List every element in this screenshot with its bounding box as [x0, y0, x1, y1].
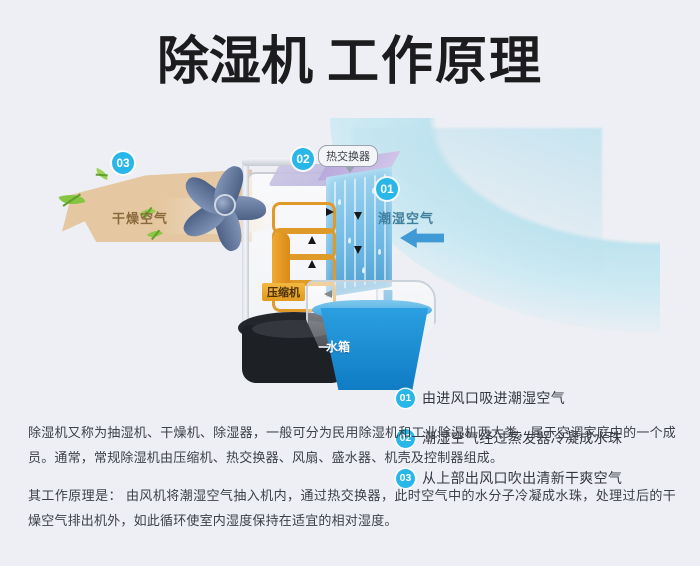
legend-text-01: 由进风口吸进潮湿空气: [422, 388, 565, 408]
compressor-cylinder: [272, 232, 290, 290]
diagram-badge-02: 02: [292, 148, 314, 170]
leaf-icon: [94, 168, 110, 180]
humid-air-label: 潮湿空气: [378, 208, 434, 227]
diagram-stage: 03 02 01 干燥空气 潮湿空气 热交换器 压缩机 水箱 01 由进风口吸进…: [0, 120, 700, 400]
description-paragraph-1: 除湿机又称为抽湿机、干燥机、除湿器，一般可分为民用除湿机和工业除湿机两大类，属于…: [28, 420, 676, 470]
page-title: 除湿机工作原理: [0, 32, 700, 92]
diagram-badge-01: 01: [376, 178, 398, 200]
diagram-badge-03: 03: [112, 152, 134, 174]
water-tank-label: 水箱: [326, 338, 350, 355]
infographic-page: 除湿机工作原理: [0, 0, 700, 566]
dry-air-label: 干燥空气: [112, 208, 168, 227]
compressor-label: 压缩机: [262, 283, 305, 301]
title-part-1: 除湿机: [157, 32, 313, 92]
heat-exchanger-callout: 热交换器: [318, 145, 378, 167]
legend-badge-01: 01: [396, 389, 415, 408]
description-paragraph-2: 其工作原理是： 由风机将潮湿空气抽入机内，通过热交换器，此时空气中的水分子冷凝成…: [28, 483, 676, 533]
title-part-2: 工作原理: [327, 32, 543, 92]
fan-icon: [178, 160, 274, 246]
fan-hub: [214, 194, 236, 216]
legend-item: 01 由进风口吸进潮湿空气: [396, 378, 686, 418]
